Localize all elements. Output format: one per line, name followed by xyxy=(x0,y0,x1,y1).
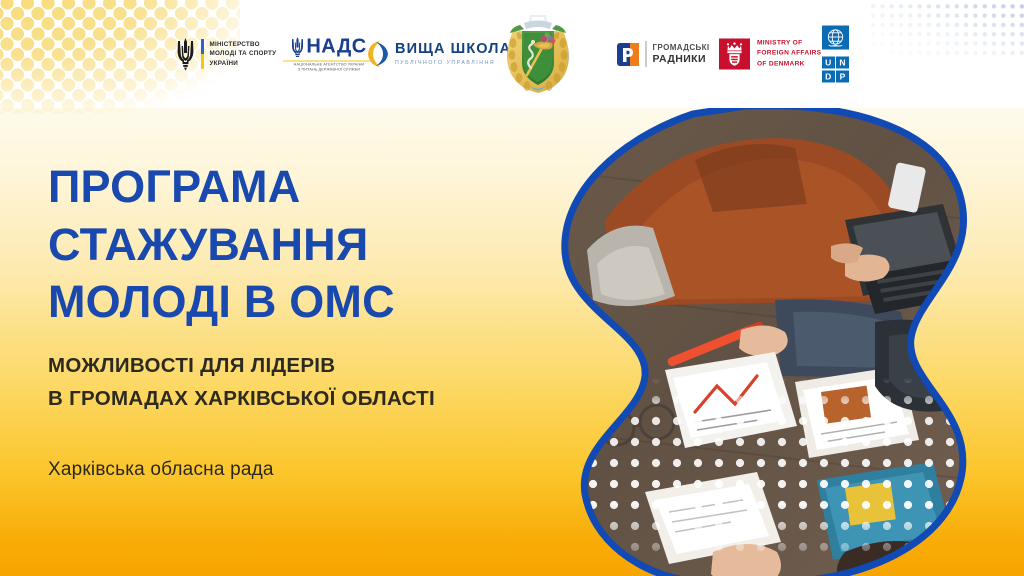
page-title: ПРОГРАМА СТАЖУВАННЯ МОЛОДІ В ОМС xyxy=(48,158,528,331)
logo-nads-rule xyxy=(283,60,375,61)
logo-ministry-of-foreign-affairs-of-denmark: MINISTRY OF FOREIGN AFFAIRS OF DENMARK xyxy=(719,39,821,70)
logo-undp-letter-u: U xyxy=(822,56,835,69)
logo-undp-letter-p: P xyxy=(836,70,849,83)
un-globe-icon xyxy=(822,26,849,50)
logo-hromadski-radnyky-line1: ГРОМАДСЬКІ xyxy=(653,43,710,52)
photo-collage xyxy=(545,100,975,576)
logo-vyshcha-shkola: ВИЩА ШКОЛА ПУБЛІЧНОГО УПРАВЛІННЯ xyxy=(367,39,511,69)
logo-ministry-of-youth-and-sports: МІНІСТЕРСТВО МОЛОДІ ТА СПОРТУ УКРАЇНИ xyxy=(176,37,276,71)
presentation-slide: МІНІСТЕРСТВО МОЛОДІ ТА СПОРТУ УКРАЇНИ НА… xyxy=(0,0,1024,576)
logo-nads-subtitle: НАЦІОНАЛЬНЕ АГЕНТСТВО УКРАЇНИ З ПИТАНЬ Д… xyxy=(294,62,365,73)
logo-undp-letter-d: D xyxy=(822,70,835,83)
organization-label: Харківська обласна рада xyxy=(48,459,528,481)
p-mark-icon xyxy=(617,43,639,66)
logo-nads-wordmark: НАДС xyxy=(306,36,366,59)
logo-divider xyxy=(201,39,204,69)
logo-vyshcha-shkola-wordmark: ВИЩА ШКОЛА xyxy=(395,42,511,57)
danish-crown-icon xyxy=(719,39,750,70)
logo-hromadski-radnyky-line2: РАДНИКИ xyxy=(653,53,710,65)
logo-divider xyxy=(645,41,647,67)
logo-vyshcha-shkola-subtitle: ПУБЛІЧНОГО УПРАВЛІННЯ xyxy=(395,60,511,66)
logo-hromadski-radnyky: ГРОМАДСЬКІ РАДНИКИ xyxy=(617,41,710,67)
page-subtitle: МОЖЛИВОСТІ ДЛЯ ЛІДЕРІВ В ГРОМАДАХ ХАРКІВ… xyxy=(48,349,528,415)
logo-denmark-text: MINISTRY OF FOREIGN AFFAIRS OF DENMARK xyxy=(757,39,821,70)
logo-kharkiv-oblast-coat-of-arms xyxy=(500,13,576,95)
logo-undp-letter-n: N xyxy=(836,56,849,69)
hero-text-block: ПРОГРАМА СТАЖУВАННЯ МОЛОДІ В ОМС МОЖЛИВО… xyxy=(48,158,528,481)
logo-nads: НАДС НАЦІОНАЛЬНЕ АГЕНТСТВО УКРАЇНИ З ПИТ… xyxy=(283,36,375,73)
logo-undp: U N D P xyxy=(822,26,849,83)
logo-ministry-of-youth-text: МІНІСТЕРСТВО МОЛОДІ ТА СПОРТУ УКРАЇНИ xyxy=(210,40,277,69)
ukraine-trident-icon xyxy=(176,37,195,71)
partner-logo-strip: МІНІСТЕРСТВО МОЛОДІ ТА СПОРТУ УКРАЇНИ НА… xyxy=(0,0,1024,108)
coat-of-arms-icon xyxy=(500,13,576,95)
ukraine-trident-icon xyxy=(291,36,304,58)
bracket-swoosh-icon xyxy=(367,39,389,69)
